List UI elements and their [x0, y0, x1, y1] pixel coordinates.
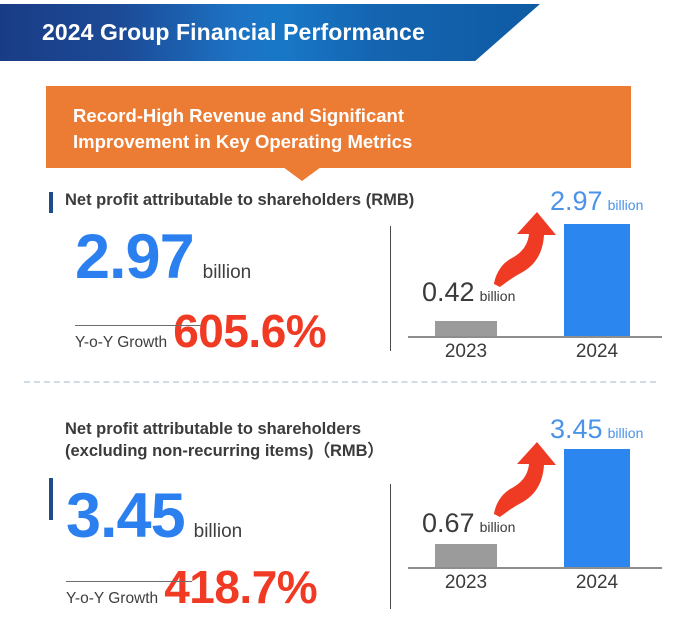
section-title: Net profit attributable to shareholders …: [65, 189, 414, 211]
metric-section-net-profit: Net profit attributable to shareholders …: [0, 186, 674, 371]
headline-unit: billion: [194, 522, 243, 541]
axis-label-2023: 2023: [426, 341, 506, 363]
axis-label-2024: 2024: [557, 572, 637, 594]
section-divider: [24, 381, 656, 383]
metric-section-net-profit-excluding: Net profit attributable to shareholders …: [0, 404, 674, 609]
callout-pointer-icon: [283, 167, 321, 181]
section-title: Net profit attributable to shareholders …: [65, 418, 384, 463]
chart-plot-area: [404, 412, 666, 567]
bar-chart-net-profit: 2.97 billion 0.42 billion 2023 2024: [404, 186, 666, 366]
headline-metric: 3.45 billion: [66, 485, 242, 548]
chart-baseline-axis: [408, 336, 662, 338]
growth-metric: Y-o-Y Growth 605.6%: [75, 308, 326, 354]
growth-value: 605.6%: [173, 308, 326, 354]
vertical-divider: [390, 484, 391, 609]
bar-2024: [564, 224, 630, 336]
page-title: 2024 Group Financial Performance: [42, 19, 425, 46]
growth-label-wrap: Y-o-Y Growth: [75, 325, 167, 352]
chart-plot-area: [404, 186, 666, 336]
growth-label-wrap: Y-o-Y Growth: [66, 581, 158, 608]
growth-rule-divider: [66, 581, 192, 582]
section-accent-bar: [49, 478, 53, 520]
highlight-callout: Record-High Revenue and Significant Impr…: [46, 86, 631, 168]
growth-metric: Y-o-Y Growth 418.7%: [66, 564, 317, 610]
growth-label: Y-o-Y Growth: [75, 334, 167, 352]
headline-metric: 2.97 billion: [75, 226, 251, 289]
headline-unit: billion: [203, 263, 252, 282]
growth-rule-divider: [75, 325, 201, 326]
headline-value: 3.45: [66, 485, 185, 548]
growth-label: Y-o-Y Growth: [66, 590, 158, 608]
header-banner: 2024 Group Financial Performance: [0, 4, 540, 61]
bar-2023: [435, 544, 497, 567]
axis-label-2024: 2024: [557, 341, 637, 363]
bar-chart-net-profit-excluding: 3.45 billion 0.67 billion 2023 2024: [404, 412, 666, 602]
vertical-divider: [390, 226, 391, 351]
section-accent-bar: [49, 192, 53, 213]
chart-baseline-axis: [408, 567, 662, 569]
callout-text: Record-High Revenue and Significant Impr…: [73, 103, 615, 156]
bar-2023: [435, 321, 497, 336]
bar-2024: [564, 449, 630, 567]
headline-value: 2.97: [75, 226, 194, 289]
growth-value: 418.7%: [164, 564, 317, 610]
axis-label-2023: 2023: [426, 572, 506, 594]
